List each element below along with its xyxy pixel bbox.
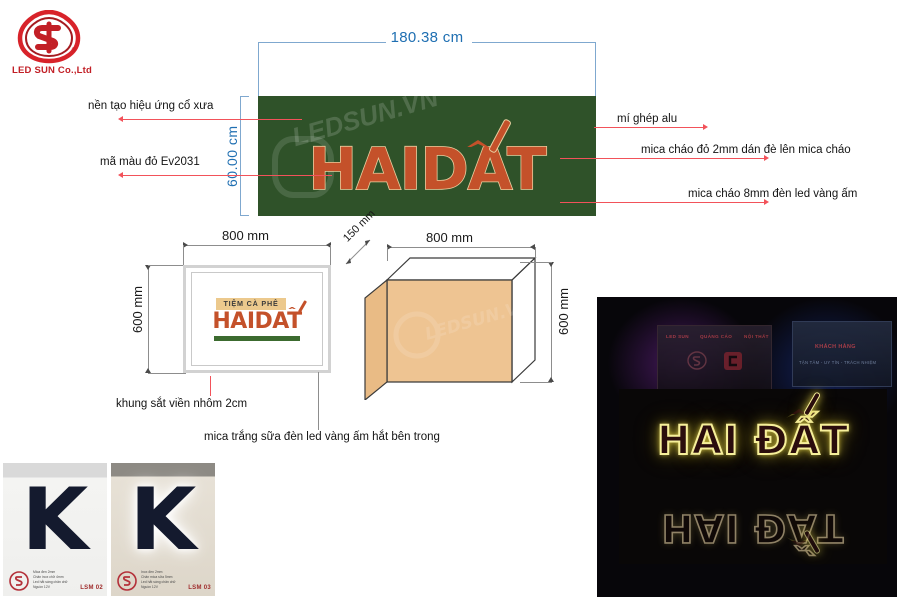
iso-height-dimension: 600 mm: [556, 288, 571, 335]
iso-ext-line-bottom: [520, 382, 552, 383]
ledsun-shield-logo: ®: [16, 10, 82, 64]
registered-mark: ®: [72, 48, 76, 54]
letter-sample-glyph-0: K: [3, 477, 107, 563]
board-a-line3: NỘI THẤT: [744, 334, 769, 339]
fs-ext-line-top: [148, 265, 186, 266]
annotation-right-0: mí ghép alu: [617, 113, 677, 127]
sample-code-0: LSM 02: [80, 585, 103, 591]
sample-spec-0: Mica đen 2mm Chân inox chữ 4mm Led hắt s…: [33, 570, 68, 590]
annotation-bottom-1: mica trắng sữa đèn led vàng ấm hắt bên t…: [204, 431, 440, 445]
annotation-left-0: nền tạo hiệu ứng cổ xưa: [88, 100, 213, 114]
background-board-left: LED SUN QUẢNG CÁO NỘI THẤT: [657, 325, 772, 390]
annotation-left-1: mã màu đỏ Ev2031: [100, 156, 200, 170]
leader-bottom-1: [318, 372, 319, 430]
sample-spec-1: Inox đen 2mm Chân mica sữa 5mm Led hắt s…: [141, 570, 176, 590]
green-accent-bar: [214, 336, 300, 341]
sample-logo-icon-1: [116, 570, 138, 592]
background-board-right: KHÁCH HÀNG TẬN TÂM - UY TÍN - TRÁCH NHIỆ…: [792, 321, 892, 387]
iso-ext-line-top: [520, 262, 552, 263]
neon-reflection-text: HAI ĐẤT: [619, 509, 887, 547]
sample-code-1: LSM 03: [188, 585, 211, 591]
iso-ext-line-right: [535, 247, 536, 261]
iso-width-dimension: 800 mm: [426, 230, 473, 245]
board-b-subtitle: TẬN TÂM - UY TÍN - TRÁCH NHIỆM: [799, 360, 876, 365]
leader-arrow-right-0: [703, 124, 708, 130]
board-a-mark-icon: [720, 348, 746, 374]
leader-right-0: [594, 127, 704, 128]
sample-spec-1-line4: Nguồn 12V: [141, 585, 176, 590]
main-height-dimension: 60.00 cm: [222, 98, 242, 214]
leader-bottom-0: [210, 376, 211, 396]
letter-sample-photo-1: K Inox đen 2mm Chân mica sữa 5mm Led hắt…: [111, 463, 215, 596]
iso-dim-line-height: [551, 262, 552, 382]
letter-sample-photo-0: K Mica đen 2mm Chân inox chữ 4mm Led hắt…: [3, 463, 107, 596]
night-installation-photo: LED SUN QUẢNG CÁO NỘI THẤT KHÁCH HÀNG TẬ…: [597, 297, 897, 597]
neon-sign-text: HAI ĐẤT: [619, 421, 887, 461]
fs-width-dimension: 800 mm: [222, 228, 269, 243]
board-a-line2: QUẢNG CÁO: [700, 334, 732, 339]
leader-arrow-left-1: [118, 172, 123, 178]
main-sign-panel: LEDSUN.VN HAIDAT: [258, 96, 596, 216]
annotation-right-1: mica cháo đỏ 2mm dán đè lên mica cháo: [641, 144, 851, 158]
framed-sign-brand-text: HAIDAT: [212, 309, 301, 334]
letter-sample-glyph-1: K: [111, 477, 215, 563]
framed-sign-face: TIỆM CÀ PHÊ HAIDAT: [191, 272, 323, 366]
fs-dim-line-height: [148, 265, 149, 373]
leader-right-1: [560, 158, 765, 159]
leader-left-1: [122, 175, 332, 176]
fs-dim-line-width: [183, 245, 331, 246]
leader-arrow-right-2: [764, 199, 769, 205]
framed-sign-brand: HAIDAT: [212, 311, 301, 333]
neon-acute-icon: [803, 391, 821, 417]
company-name: LED SUN Co.,Ltd: [12, 65, 100, 76]
fs-ext-line-left: [183, 245, 184, 267]
sample-spec-0-line4: Nguồn 12V: [33, 585, 68, 590]
main-sign-text: HAIDAT: [258, 140, 596, 198]
board-a-logo-icon: [686, 350, 708, 372]
fs-height-dimension: 600 mm: [130, 286, 145, 333]
leader-left-0: [122, 119, 302, 120]
annotation-bottom-0: khung sắt viền nhôm 2cm: [116, 398, 247, 412]
board-b-title: KHÁCH HÀNG: [815, 344, 856, 350]
leader-arrow-right-1: [764, 155, 769, 161]
iso-dim-line-width: [387, 247, 535, 248]
design-sheet: ® LED SUN Co.,Ltd 180.38 cm 60.00 cm LED…: [0, 0, 900, 600]
fs-ext-line-bottom: [148, 373, 186, 374]
framed-sign-mockup: TIỆM CÀ PHÊ HAIDAT: [183, 265, 331, 373]
framed-acute-icon: [298, 300, 307, 313]
leader-arrow-left-0: [118, 116, 123, 122]
board-a-line1: LED SUN: [666, 334, 689, 339]
neon-sign-panel: HAI ĐẤT HAI ĐẤT: [619, 389, 887, 564]
annotation-right-2: mica cháo 8mm đèn led vàng ấm: [688, 188, 857, 202]
fs-ext-line-right: [330, 245, 331, 267]
company-logo: ® LED SUN Co.,Ltd: [12, 10, 100, 80]
sample-logo-icon-0: [8, 570, 30, 592]
leader-right-2: [560, 202, 765, 203]
